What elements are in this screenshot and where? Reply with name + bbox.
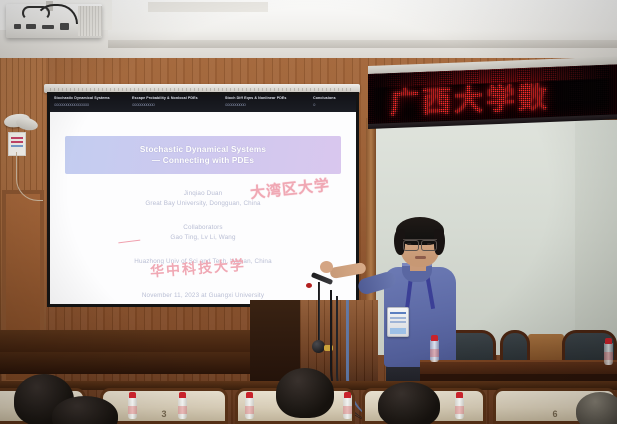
presenter-hand [320, 261, 333, 273]
bottle-cap [605, 338, 612, 344]
handwritten-annotation-1: 大湾区大学 [249, 174, 331, 203]
audience-seat: 3 [100, 388, 228, 424]
slide-nav-dots-0: ooooooooooooooooo [54, 102, 89, 107]
bottle-label [178, 406, 187, 414]
bottle-cap [431, 335, 438, 341]
ceiling-vent [148, 2, 268, 12]
water-bottle-seat-3 [128, 397, 137, 419]
handwritten-strikethrough [118, 235, 141, 244]
water-bottle-seat-3b [178, 397, 187, 419]
bottle-label [245, 406, 254, 414]
pale-wall-panel-right [575, 120, 617, 355]
slide-title-line1: Stochastic Dynamical Systems [140, 144, 266, 155]
bottle-cap [246, 392, 253, 398]
slide-nav-item-3: Conclusions [313, 96, 336, 100]
bottle-label [430, 349, 439, 357]
slide-nav-item-0: Stochastic Dynamical Systems [54, 96, 110, 100]
slide-nav-bar: Stochastic Dynamical Systems ooooooooooo… [50, 95, 356, 112]
audience-head-3 [276, 368, 334, 418]
bottle-cap [456, 392, 463, 398]
audience-head-5 [576, 392, 617, 424]
ceiling-edge [108, 40, 617, 48]
projector-port-1 [14, 24, 21, 29]
presenter-mouth [415, 256, 426, 259]
stage-chair-2 [500, 330, 530, 364]
presenter-eye-right [427, 243, 431, 245]
slide-nav-item-2: Stoch Diff Eqns & Nonlinear PDEs [225, 96, 287, 100]
slide-nav-item-1: Escape Probability & Nonlocal PDEs [132, 96, 198, 100]
bottle-label [604, 352, 613, 360]
bottle-cap [344, 392, 351, 398]
slide-collaborators: Gao Ting, Lv Li, Wang [50, 234, 356, 241]
bottle-label [455, 406, 464, 414]
roller-texture [50, 88, 354, 91]
projection-screen: Stochastic Dynamical Systems ooooooooooo… [50, 95, 356, 304]
slide-nav-dots-2: oooooooooo [225, 102, 245, 107]
bottle-label [128, 406, 137, 414]
bottle-cap [179, 392, 186, 398]
water-bottle-seat-4 [245, 397, 254, 419]
projector-vent-grille [78, 6, 102, 36]
water-bottle-stage [430, 340, 439, 362]
projector-cable-coil [22, 6, 50, 20]
projector-port-3 [42, 25, 54, 29]
slide-affiliation: Great Bay University, Dongguan, China [50, 200, 356, 207]
front-bench-lower [0, 352, 250, 374]
audience-head-4 [378, 382, 440, 424]
slide-title-line2: — Connecting with PDEs [152, 155, 254, 166]
projector-port-4 [60, 23, 69, 30]
presenter-eye-left [407, 243, 411, 245]
slide-nav-dots-3: o [313, 102, 315, 107]
slide-date-venue: November 11, 2023 at Guangxi University [50, 292, 356, 299]
microphone-stand [318, 282, 320, 340]
projector-port-2 [26, 24, 36, 29]
water-bottle-stage-2 [604, 343, 613, 365]
slide-nav-dots-1: ooooooooooo [132, 102, 154, 107]
bottle-cap [129, 392, 136, 398]
bottle-label [343, 406, 352, 414]
slide-body: Stochastic Dynamical Systems — Connectin… [50, 112, 356, 304]
water-bottle-seat-4b [343, 397, 352, 419]
laser-pointer-tip [306, 283, 312, 288]
lecture-hall-photo: Stochastic Dynamical Systems ooooooooooo… [0, 0, 617, 424]
seat-number: 3 [103, 409, 225, 419]
water-bottle-seat-5 [455, 397, 464, 419]
slide-title-box: Stochastic Dynamical Systems — Connectin… [65, 136, 341, 174]
slide-collaborators-label: Collaborators [50, 224, 356, 231]
ceiling-projector [6, 4, 102, 38]
